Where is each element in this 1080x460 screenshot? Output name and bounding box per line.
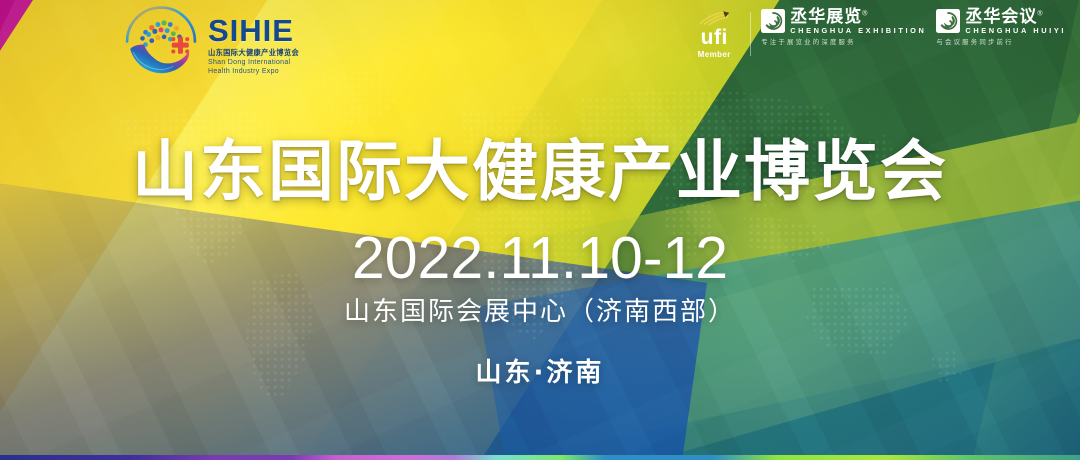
chenghua-exhibition-name-cn: 丞华展览® xyxy=(790,8,926,25)
sihie-logo-text: SIHIE 山东国际大健康产业博览会 Shan Dong Internation… xyxy=(208,11,299,74)
event-venue: 山东国际会展中心（济南西部） xyxy=(0,291,1080,328)
chenghua-exhibition-name-en: CHENGHUA EXHIBITION xyxy=(790,27,926,34)
chenghua-spiral-icon xyxy=(761,9,785,33)
chenghua-huiyi-name-cn: 丞华会议® xyxy=(965,8,1066,25)
sihie-emblem-icon xyxy=(122,6,200,80)
sihie-logo: SIHIE 山东国际大健康产业博览会 Shan Dong Internation… xyxy=(122,6,299,80)
page-title: 山东国际大健康产业博览会 xyxy=(0,118,1080,214)
event-poster: SIHIE 山东国际大健康产业博览会 Shan Dong Internation… xyxy=(0,0,1080,460)
ufi-logo: ufi Member xyxy=(688,8,740,59)
event-date: 2022.11.10-12 xyxy=(0,224,1080,292)
ufi-wordmark: ufi xyxy=(701,27,728,48)
chenghua-exhibition-logo: 丞华展览® CHENGHUA EXHIBITION 专注于展览业的深度服务 xyxy=(761,8,926,46)
chenghua-huiyi-logo: 丞华会议® CHENGHUA HUIYI 与会议服务同步前行 xyxy=(936,8,1066,46)
sihie-subtitle-cn: 山东国际大健康产业博览会 xyxy=(208,49,299,56)
ufi-member-label: Member xyxy=(698,50,731,59)
chenghua-huiyi-name-en: CHENGHUA HUIYI xyxy=(965,27,1066,34)
chenghua-huiyi-sub-cn: 与会议服务同步前行 xyxy=(936,37,1013,46)
chenghua-spiral-icon xyxy=(936,9,960,33)
sihie-subtitle-en-1: Shan Dong International xyxy=(208,59,299,66)
partner-logos: ufi Member 丞华展览® CHENGHUA EXHIBITION 专注于… xyxy=(688,8,1066,59)
partner-divider xyxy=(750,12,751,56)
sihie-wordmark: SIHIE xyxy=(208,15,299,46)
ufi-swoosh-icon xyxy=(697,10,731,26)
bottom-accent-strip xyxy=(0,455,1080,460)
event-city: 山东·济南 xyxy=(0,352,1080,389)
chenghua-exhibition-sub-cn: 专注于展览业的深度服务 xyxy=(761,37,856,46)
registered-mark: ® xyxy=(1037,10,1043,17)
sihie-subtitle-en-2: Health Industry Expo xyxy=(208,68,299,75)
registered-mark: ® xyxy=(862,10,868,17)
